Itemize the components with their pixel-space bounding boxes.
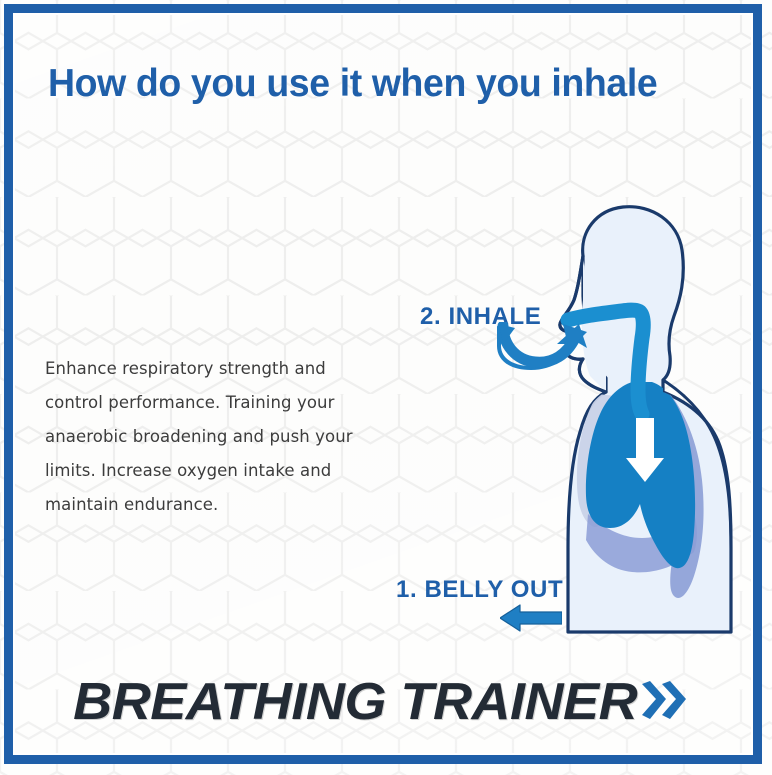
footer-wordmark: BREATHING TRAINER xyxy=(0,672,772,732)
step-label-belly-out: 1. BELLY OUT xyxy=(396,576,563,604)
poster-canvas: How do you use it when you inhale Enhanc… xyxy=(0,0,772,775)
page-title: How do you use it when you inhale xyxy=(48,62,710,106)
curved-arrow-up-right-icon xyxy=(497,322,589,370)
body-paragraph: Enhance respiratory strength and control… xyxy=(45,352,385,522)
footer-wordmark-text: BREATHING TRAINER xyxy=(73,672,637,732)
double-chevron-right-icon xyxy=(640,679,688,721)
arrow-left-icon xyxy=(500,603,562,633)
